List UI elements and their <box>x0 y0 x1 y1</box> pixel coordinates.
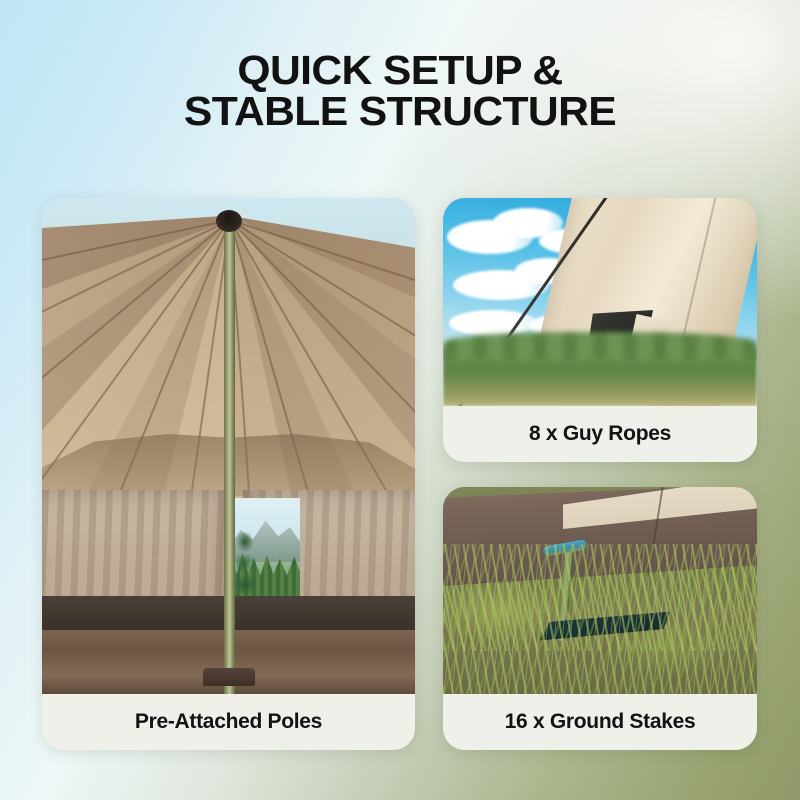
ground-stake-illustration <box>443 487 757 694</box>
caption-bar-guy-ropes: 8 x Guy Ropes <box>443 406 757 462</box>
guy-rope-photo <box>443 198 757 406</box>
center-pole <box>224 218 235 694</box>
pole-base <box>203 668 255 686</box>
caption-text: 16 x Ground Stakes <box>505 710 696 734</box>
ground-stake-photo <box>443 487 757 694</box>
treeline <box>443 348 757 406</box>
page-title-line-2: STABLE STRUCTURE <box>0 91 800 132</box>
feature-card-pre-attached-poles[interactable]: Pre-Attached Poles <box>42 198 415 750</box>
caption-bar-ground-stakes: 16 x Ground Stakes <box>443 694 757 750</box>
guy-rope-illustration <box>443 198 757 406</box>
caption-bar-pre-attached-poles: Pre-Attached Poles <box>42 694 415 750</box>
tent-interior-illustration <box>42 198 415 694</box>
feature-card-ground-stakes[interactable]: 16 x Ground Stakes <box>443 487 757 750</box>
page-title-line-1: QUICK SETUP & <box>0 50 800 91</box>
feature-card-guy-ropes[interactable]: 8 x Guy Ropes <box>443 198 757 462</box>
grass-foreground <box>443 544 757 694</box>
caption-text: 8 x Guy Ropes <box>529 422 671 446</box>
tent-apex-ring <box>216 210 242 232</box>
tent-interior-photo <box>42 198 415 694</box>
page-title: QUICK SETUP & STABLE STRUCTURE <box>0 50 800 131</box>
caption-text: Pre-Attached Poles <box>135 710 322 734</box>
